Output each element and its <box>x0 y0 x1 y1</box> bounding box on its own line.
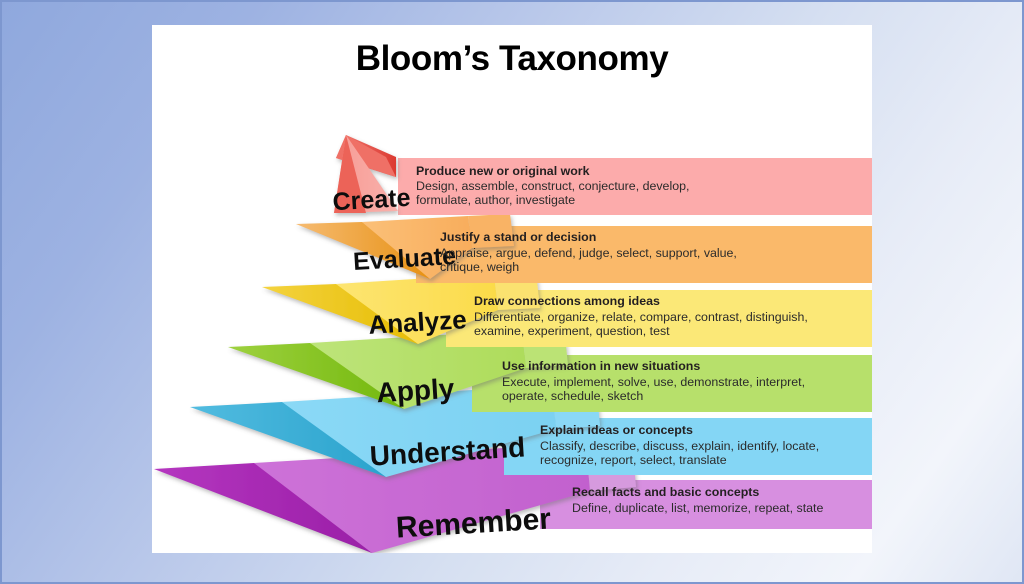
desc-heading-apply: Use information in new situations <box>502 359 700 373</box>
desc-verbs-understand-line-0: Classify, describe, discuss, explain, id… <box>540 439 819 453</box>
desc-verbs-create-line-1: formulate, author, investigate <box>416 193 575 207</box>
desc-heading-remember: Recall facts and basic concepts <box>572 485 759 499</box>
desc-heading-create: Produce new or original work <box>416 164 590 178</box>
slide-root: Bloom’s Taxonomy <box>0 0 1024 584</box>
desc-heading-evaluate: Justify a stand or decision <box>440 230 596 244</box>
desc-verbs-create-line-0: Design, assemble, construct, conjecture,… <box>416 179 689 193</box>
desc-verbs-apply-line-0: Execute, implement, solve, use, demonstr… <box>502 375 805 389</box>
slide-canvas: Bloom’s Taxonomy <box>152 25 872 553</box>
desc-heading-understand: Explain ideas or concepts <box>540 423 693 437</box>
tier-label-create: Create <box>332 184 411 217</box>
desc-verbs-evaluate-line-0: Appraise, argue, defend, judge, select, … <box>440 246 737 260</box>
desc-verbs-remember-line-0: Define, duplicate, list, memorize, repea… <box>572 501 823 515</box>
tier-label-analyze: Analyze <box>368 304 468 340</box>
desc-verbs-understand-line-1: recognize, report, select, translate <box>540 453 727 467</box>
blooms-taxonomy-pyramid: Remember Understand <box>150 25 872 553</box>
pyramid-tier-create[interactable]: Create <box>332 135 872 216</box>
tier-label-apply: Apply <box>376 373 456 409</box>
desc-heading-analyze: Draw connections among ideas <box>474 294 660 308</box>
desc-verbs-evaluate-line-1: critique, weigh <box>440 260 519 274</box>
desc-verbs-analyze-line-0: Differentiate, organize, relate, compare… <box>474 310 808 324</box>
desc-verbs-apply-line-1: operate, schedule, sketch <box>502 389 643 403</box>
desc-verbs-analyze-line-1: examine, experiment, question, test <box>474 324 670 338</box>
